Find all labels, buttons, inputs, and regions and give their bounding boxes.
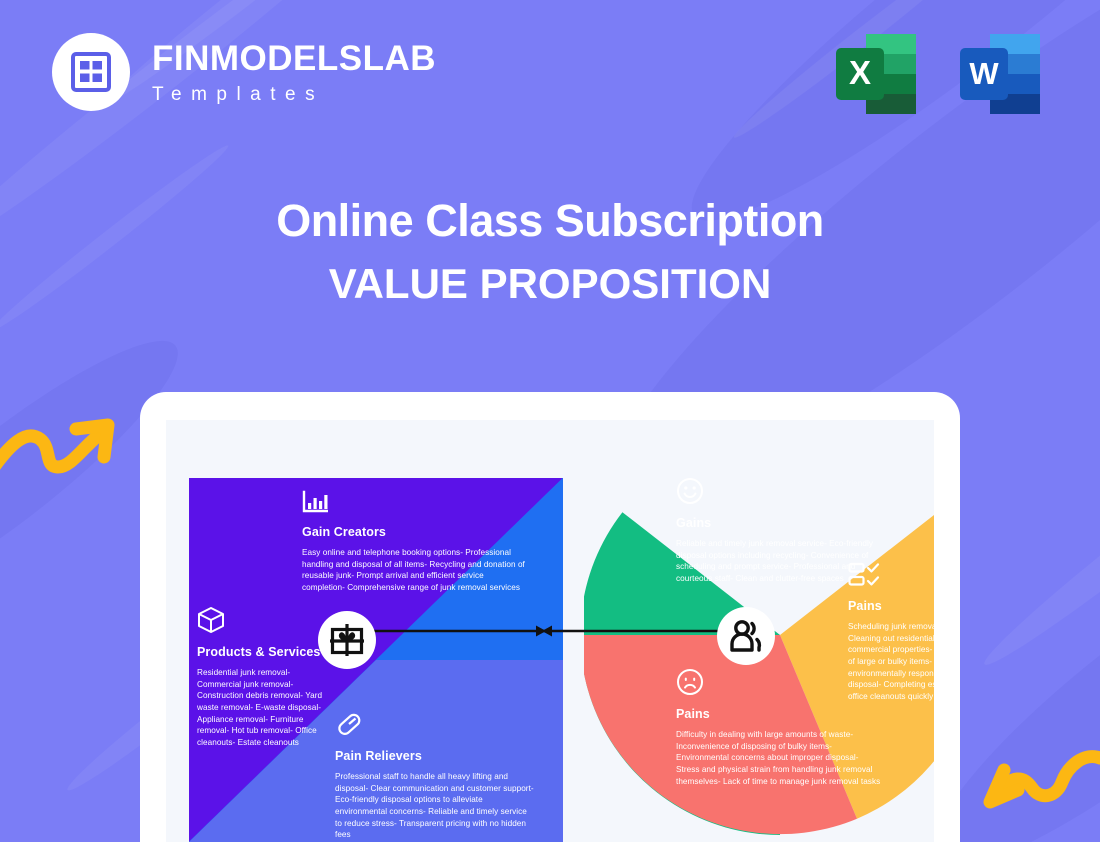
section-title: Gains	[676, 516, 876, 530]
section-gains[interactable]: Gains Reliable and timely junk removal s…	[676, 477, 876, 585]
title-block: Online Class Subscription VALUE PROPOSIT…	[0, 196, 1100, 307]
brand-tagline: Templates	[152, 85, 436, 104]
section-body: Difficulty in dealing with large amounts…	[676, 729, 881, 787]
section-body: Residential junk removal- Commercial jun…	[197, 667, 327, 748]
brand-name: FINMODELSLAB	[152, 41, 436, 76]
squiggly-arrow-down-left-icon	[974, 748, 1100, 828]
section-title: Gain Creators	[302, 525, 527, 539]
customer-person-icon	[728, 619, 764, 653]
section-title: Pain Relievers	[335, 749, 535, 763]
section-title: Products & Services	[197, 645, 327, 659]
word-icon[interactable]: W	[958, 32, 1042, 116]
customer-profile-hub[interactable]	[717, 607, 775, 665]
checklist-icon	[848, 562, 934, 588]
svg-text:X: X	[849, 54, 871, 91]
squiggly-arrow-up-right-icon	[0, 405, 122, 480]
section-body: Easy online and telephone booking option…	[302, 547, 527, 594]
bar-chart-icon	[302, 490, 527, 514]
value-map-hub[interactable]	[318, 611, 376, 669]
page-title: Online Class Subscription	[0, 196, 1100, 246]
smiley-face-icon	[676, 477, 876, 505]
section-title: Pains	[848, 599, 934, 613]
pill-capsule-icon	[335, 710, 535, 738]
gift-box-icon	[330, 623, 364, 657]
package-box-icon	[197, 606, 327, 634]
page-header: FINMODELSLAB Templates X	[0, 0, 1100, 150]
brand-logo[interactable]: FINMODELSLAB Templates	[52, 33, 436, 111]
section-pain-relievers[interactable]: Pain Relievers Professional staff to han…	[335, 710, 535, 841]
section-body: Reliable and timely junk removal service…	[676, 538, 876, 585]
section-title: Pains	[676, 707, 881, 721]
section-body: Professional staff to handle all heavy l…	[335, 771, 535, 841]
page-subtitle: VALUE PROPOSITION	[0, 261, 1100, 307]
section-products-services[interactable]: Products & Services Residential junk rem…	[197, 606, 327, 748]
value-map-square: Gain Creators Easy online and telephone …	[189, 478, 563, 842]
file-format-icons: X W	[834, 32, 1042, 116]
device-mockup-card: Gain Creators Easy online and telephone …	[140, 392, 960, 842]
svg-text:W: W	[969, 56, 999, 91]
sad-face-icon	[676, 668, 881, 696]
grid-squares-icon	[52, 33, 130, 111]
section-pains[interactable]: Pains Difficulty in dealing with large a…	[676, 668, 881, 787]
section-gain-creators[interactable]: Gain Creators Easy online and telephone …	[302, 490, 527, 594]
excel-icon[interactable]: X	[834, 32, 918, 116]
fit-connector-arrows	[340, 624, 740, 638]
